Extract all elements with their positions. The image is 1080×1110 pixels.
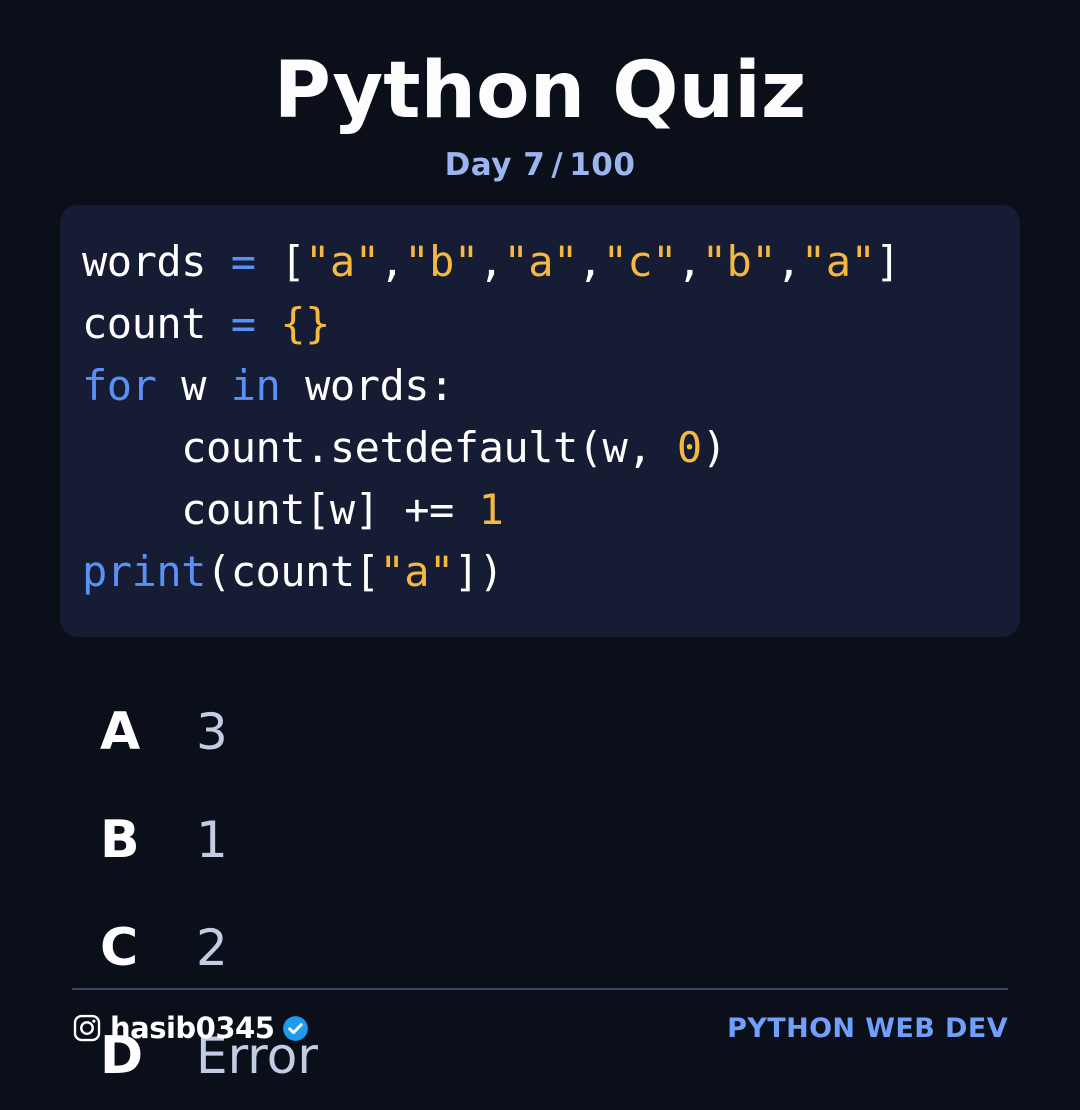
code-token: w: [156, 361, 230, 410]
code-token: "a": [503, 237, 577, 286]
code-content: words = ["a","b","a","c","b","a"] count …: [82, 231, 998, 603]
code-token: ,: [677, 237, 702, 286]
page-title: Python Quiz: [0, 52, 1080, 130]
code-token: "a": [379, 547, 453, 596]
code-token: {}: [280, 299, 330, 348]
code-token: count[w] +=: [181, 485, 478, 534]
code-token: 0: [677, 423, 702, 472]
instagram-icon: [72, 1013, 102, 1043]
code-token: ]: [875, 237, 900, 286]
option-letter: B: [100, 814, 166, 866]
day-separator: /: [545, 147, 569, 183]
instagram-handle: hasib0345: [110, 1014, 274, 1043]
code-token: "b": [702, 237, 776, 286]
code-token: [82, 423, 181, 472]
code-token: "c": [603, 237, 677, 286]
code-token: [82, 485, 181, 534]
option-c[interactable]: C 2: [0, 894, 1080, 1002]
code-token: for: [82, 361, 156, 410]
code-token: words:: [280, 361, 454, 410]
code-token: "a": [305, 237, 379, 286]
code-token: count: [82, 299, 206, 348]
option-letter: C: [100, 922, 166, 974]
code-token: "b": [404, 237, 478, 286]
day-label: Day 7: [445, 147, 546, 183]
option-value: 2: [196, 923, 228, 973]
option-letter: A: [100, 706, 166, 758]
code-token: "a": [801, 237, 875, 286]
code-token: words: [82, 237, 206, 286]
code-block: words = ["a","b","a","c","b","a"] count …: [60, 205, 1020, 637]
option-b[interactable]: B 1: [0, 786, 1080, 894]
header: Python Quiz Day 7/100: [0, 52, 1080, 181]
code-token: ,: [379, 237, 404, 286]
option-value: 1: [196, 815, 228, 865]
code-token: ,: [479, 237, 504, 286]
footer: hasib0345 PYTHON WEB DEV: [72, 1004, 1008, 1052]
footer-divider: [72, 988, 1008, 990]
quiz-card: Python Quiz Day 7/100 words = ["a","b","…: [0, 0, 1080, 1080]
day-total: 100: [569, 147, 635, 183]
code-token: =: [231, 299, 256, 348]
day-counter: Day 7/100: [0, 150, 1080, 181]
code-token: 1: [479, 485, 504, 534]
code-token: ,: [578, 237, 603, 286]
verified-badge-icon: [282, 1015, 309, 1042]
code-token: in: [231, 361, 281, 410]
code-token: [: [280, 237, 305, 286]
option-value: 3: [196, 707, 228, 757]
footer-credit[interactable]: hasib0345: [72, 1013, 309, 1043]
code-token: ): [702, 423, 727, 472]
code-token: print: [82, 547, 206, 596]
brand-label: PYTHON WEB DEV: [727, 1015, 1008, 1042]
code-token: ,: [776, 237, 801, 286]
code-token: (count[: [206, 547, 380, 596]
code-token: =: [231, 237, 256, 286]
code-token: ]): [454, 547, 504, 596]
option-a[interactable]: A 3: [0, 678, 1080, 786]
code-token: count.setdefault(w,: [181, 423, 677, 472]
